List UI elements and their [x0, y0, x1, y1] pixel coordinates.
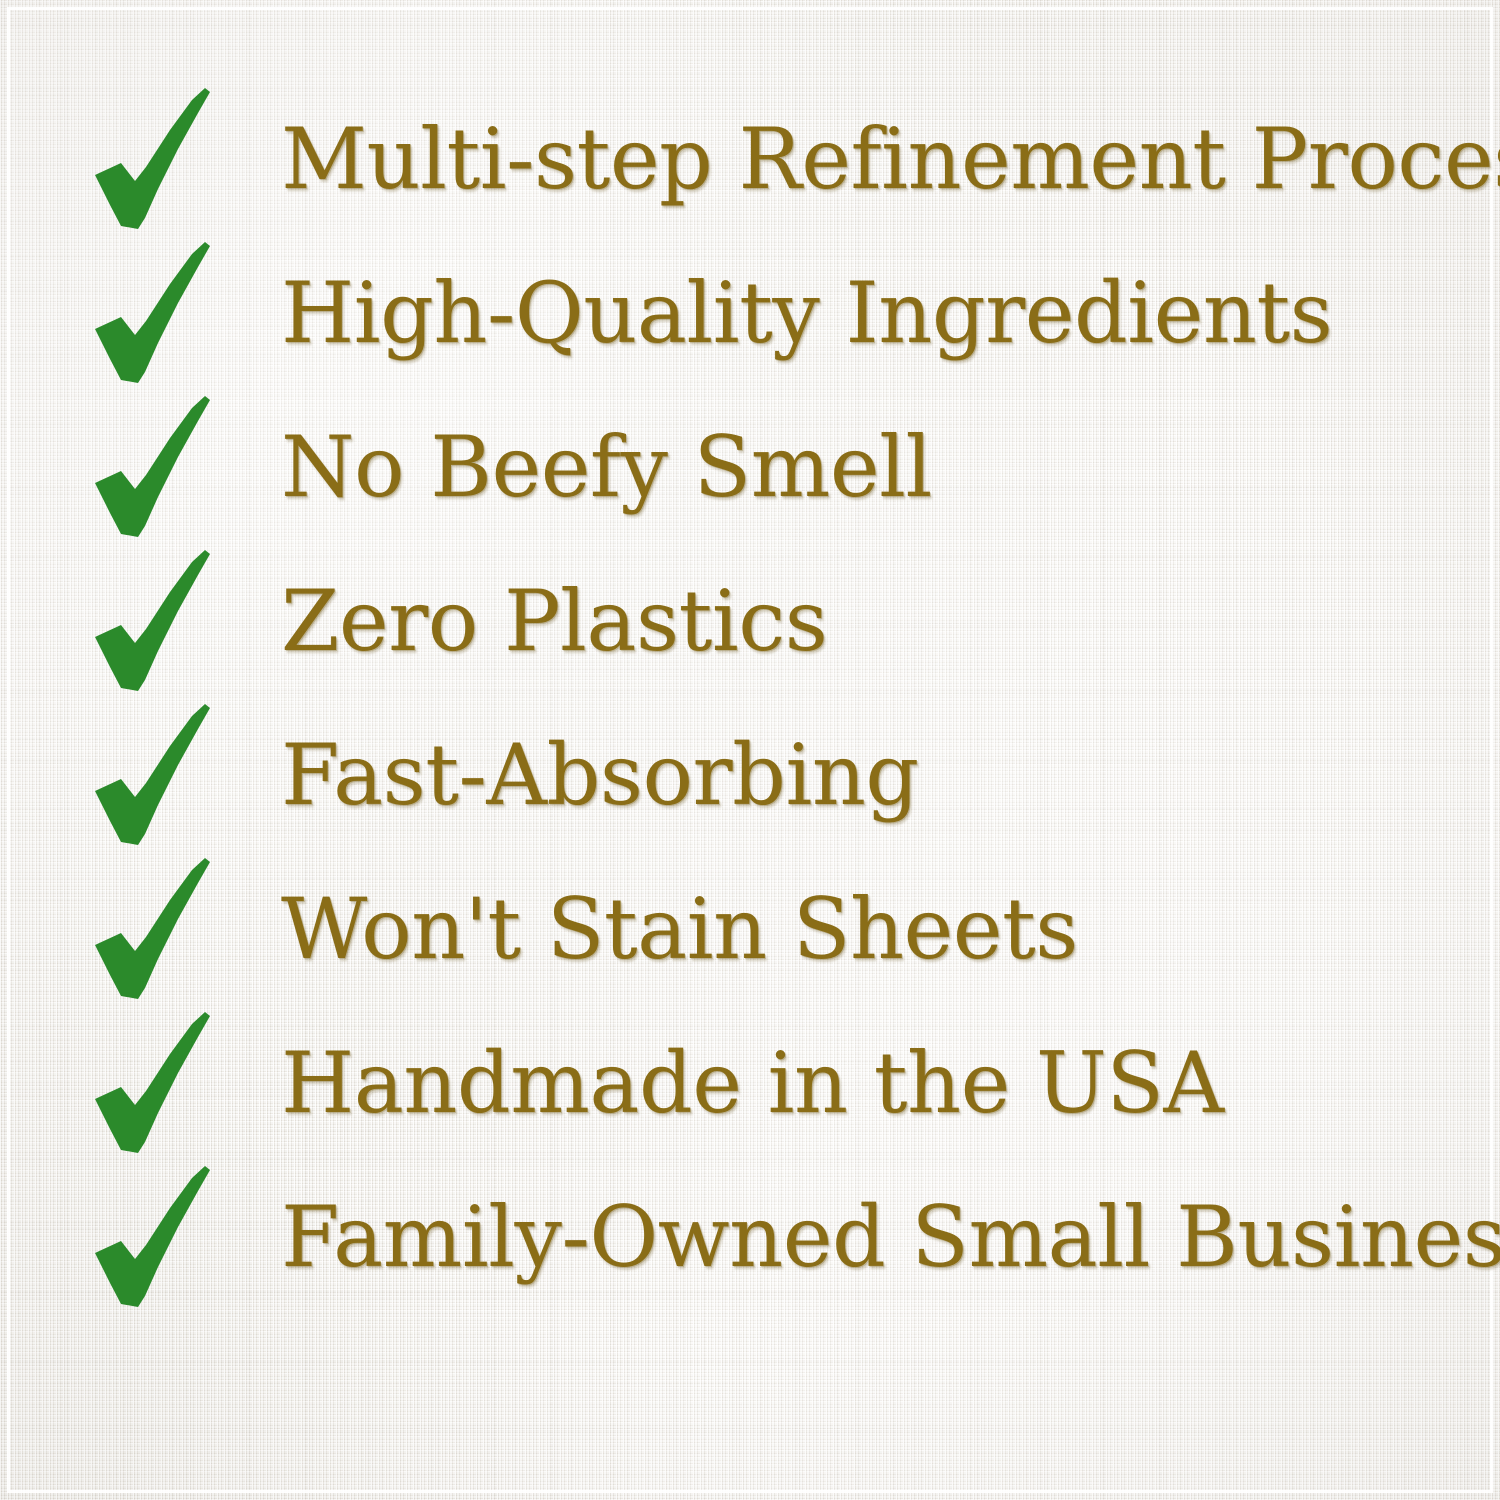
- checklist-item-label: No Beefy Smell: [281, 425, 932, 509]
- green-check-icon: [88, 393, 216, 541]
- benefits-card: Multi-step Refinement Process High-Quali…: [0, 0, 1500, 1500]
- checklist-item-zero-plastics: Zero Plastics: [0, 544, 1500, 698]
- benefits-checklist: Multi-step Refinement Process High-Quali…: [0, 0, 1500, 1500]
- checklist-item-label: Fast-Absorbing: [281, 733, 919, 817]
- green-check-icon: [88, 547, 216, 695]
- green-check-icon: [88, 239, 216, 387]
- checklist-item-multi-step-refinement-process: Multi-step Refinement Process: [0, 82, 1500, 236]
- checklist-item-high-quality-ingredients: High-Quality Ingredients: [0, 236, 1500, 390]
- checklist-item-fast-absorbing: Fast-Absorbing: [0, 698, 1500, 852]
- checklist-item-family-owned-small-business: Family-Owned Small Business: [0, 1160, 1500, 1314]
- checklist-item-label: Zero Plastics: [281, 579, 827, 663]
- checklist-item-wont-stain-sheets: Won't Stain Sheets: [0, 852, 1500, 1006]
- checklist-item-no-beefy-smell: No Beefy Smell: [0, 390, 1500, 544]
- checklist-item-label: Family-Owned Small Business: [281, 1195, 1500, 1279]
- checklist-item-label: High-Quality Ingredients: [281, 271, 1332, 355]
- green-check-icon: [88, 855, 216, 1003]
- green-check-icon: [88, 85, 216, 233]
- checklist-item-label: Handmade in the USA: [281, 1041, 1224, 1125]
- checklist-item-label: Won't Stain Sheets: [281, 887, 1078, 971]
- green-check-icon: [88, 701, 216, 849]
- checklist-item-label: Multi-step Refinement Process: [281, 117, 1500, 201]
- green-check-icon: [88, 1009, 216, 1157]
- checklist-item-handmade-in-the-usa: Handmade in the USA: [0, 1006, 1500, 1160]
- green-check-icon: [88, 1163, 216, 1311]
